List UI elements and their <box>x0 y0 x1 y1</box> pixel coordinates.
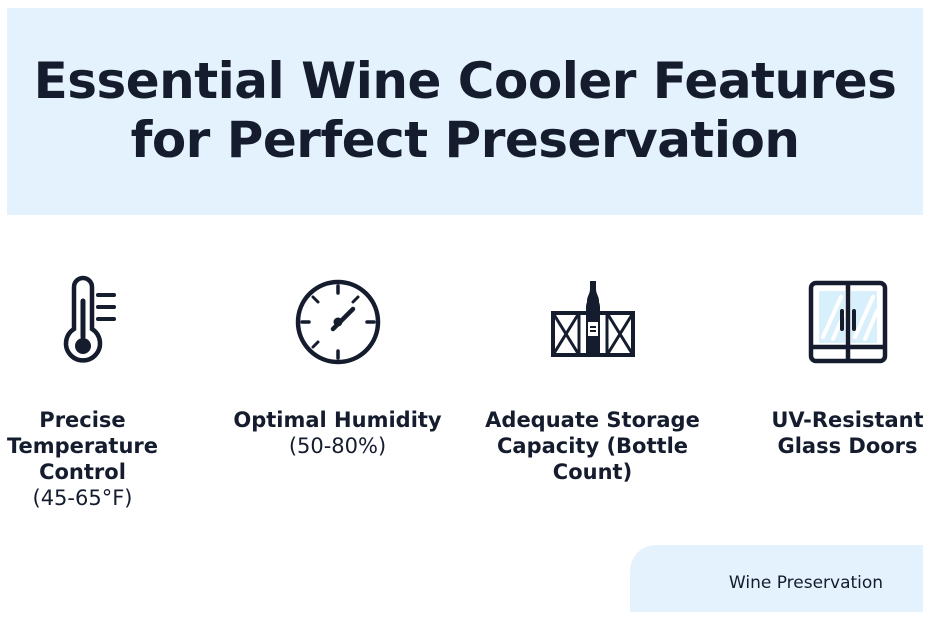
footer-badge-label: Wine Preservation <box>729 573 883 593</box>
feature-label-line-2: Capacity (Bottle <box>473 433 713 459</box>
feature-label-humidity: Optimal Humidity (50-80%) <box>218 407 458 459</box>
feature-label-line-1: Precise Temperature <box>0 407 203 459</box>
canvas-edge-right <box>923 0 930 620</box>
feature-item-humidity: Optimal Humidity (50-80%) <box>210 215 465 459</box>
thermometer-icon <box>28 257 138 387</box>
page-title-line-2: for Perfect Preservation <box>131 111 800 170</box>
feature-label-line-3: Count) <box>473 459 713 485</box>
header-inner: Essential Wine Cooler Features for Perfe… <box>0 0 930 215</box>
canvas-edge-left <box>0 0 7 620</box>
glass-doors-cabinet-icon <box>793 257 903 387</box>
feature-label-storage: Adequate Storage Capacity (Bottle Count) <box>473 407 713 485</box>
humidity-gauge-icon <box>283 257 393 387</box>
feature-label-temperature: Precise Temperature Control (45-65°F) <box>0 407 203 511</box>
wine-bottle-rack-icon <box>533 257 653 387</box>
feature-label-line-1: Optimal Humidity <box>218 407 458 433</box>
header-band: Essential Wine Cooler Features for Perfe… <box>0 0 930 215</box>
canvas-edge-bottom <box>0 612 930 620</box>
feature-item-temperature: Precise Temperature Control (45-65°F) <box>0 215 210 511</box>
feature-label-line-3: (45-65°F) <box>0 485 203 511</box>
feature-label-line-2: Control <box>0 459 203 485</box>
feature-label-line-2: (50-80%) <box>218 433 458 459</box>
footer-area: Wine Preservation <box>0 545 930 620</box>
feature-label-line-1: Adequate Storage <box>473 407 713 433</box>
features-section: Precise Temperature Control (45-65°F) <box>0 215 930 545</box>
features-row: Precise Temperature Control (45-65°F) <box>0 215 930 545</box>
feature-item-storage: Adequate Storage Capacity (Bottle Count) <box>465 215 720 485</box>
infographic-canvas: Essential Wine Cooler Features for Perfe… <box>0 0 930 620</box>
footer-badge: Wine Preservation <box>630 545 930 620</box>
canvas-edge-top <box>0 0 930 8</box>
feature-item-glass-doors: UV-Resistant Glass Doors <box>720 215 930 459</box>
feature-label-line-1: UV-Resistant <box>728 407 930 433</box>
feature-label-line-2: Glass Doors <box>728 433 930 459</box>
feature-label-glass-doors: UV-Resistant Glass Doors <box>728 407 930 459</box>
page-title-line-1: Essential Wine Cooler Features <box>34 52 897 111</box>
